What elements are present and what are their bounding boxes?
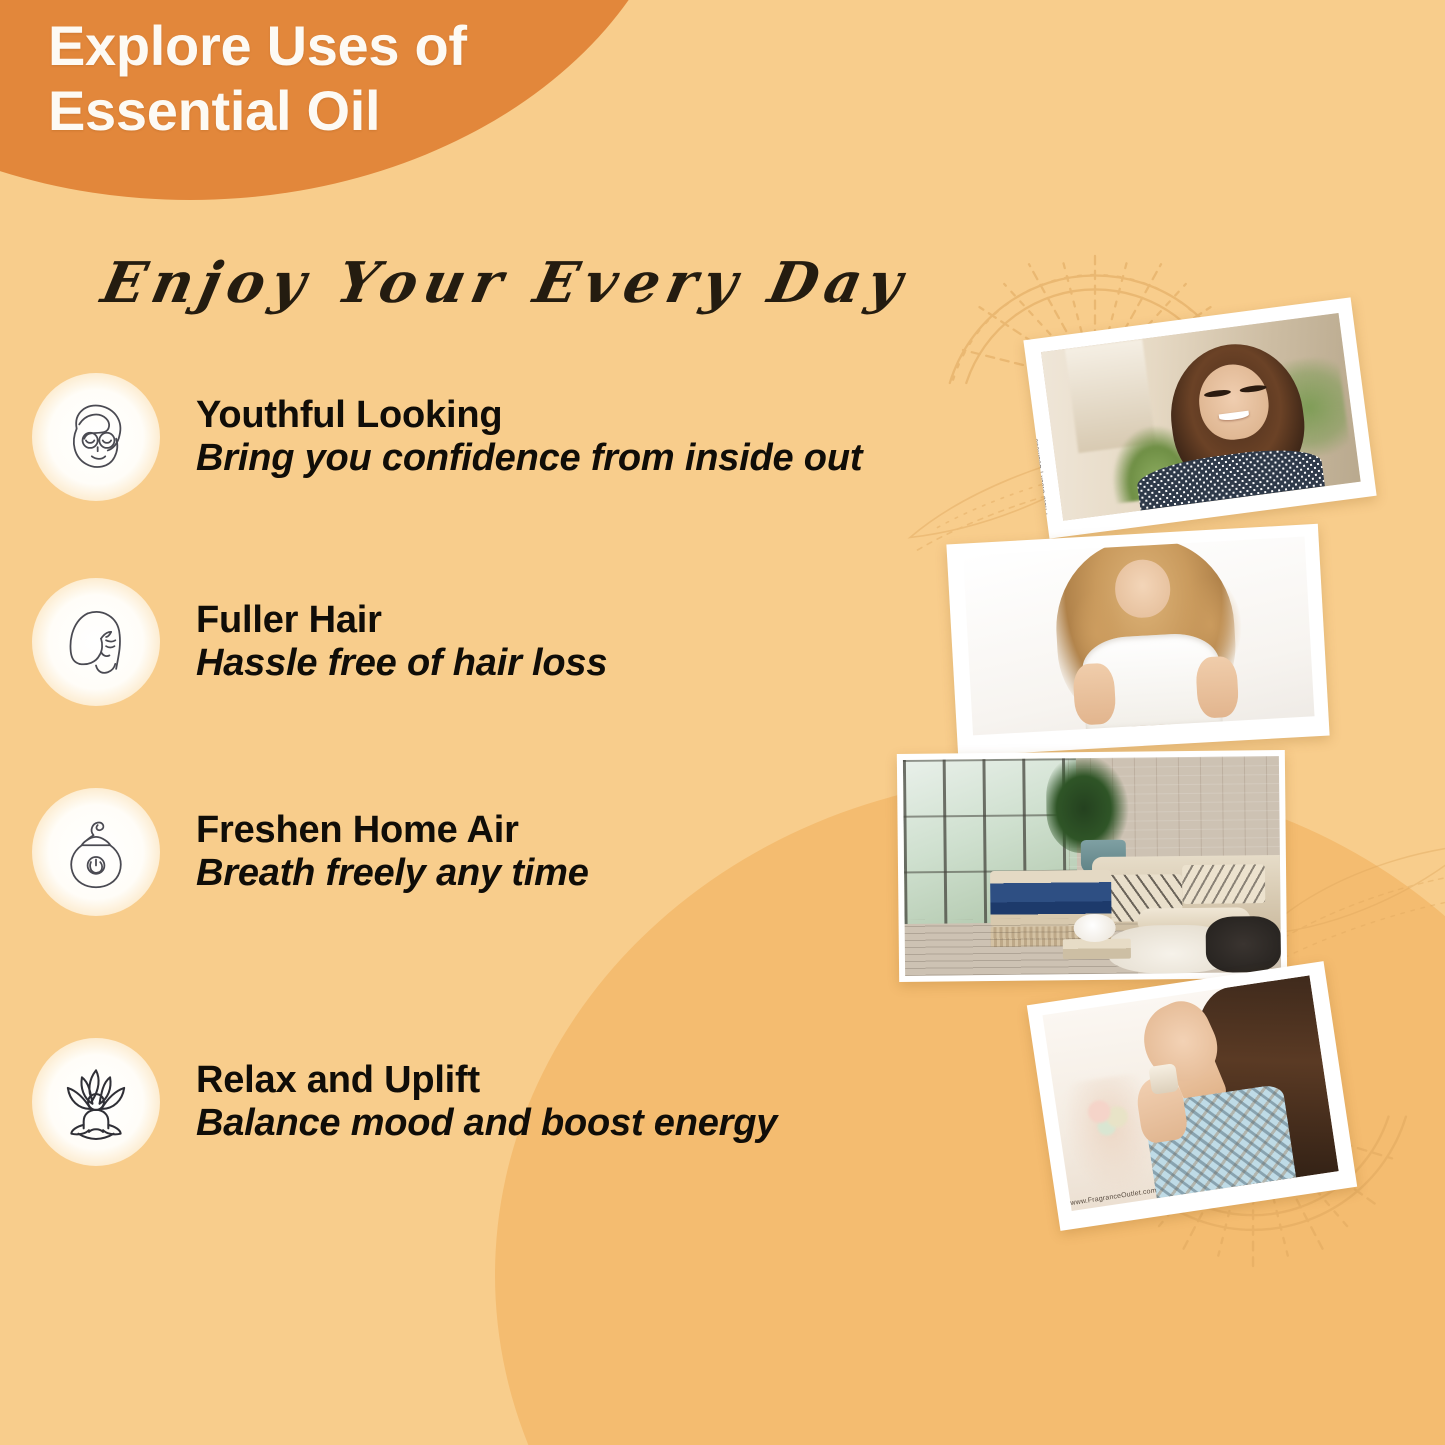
feature-text-freshen-home-air: Freshen Home Air Breath freely any time bbox=[196, 809, 589, 894]
feature-subtitle: Balance mood and boost energy bbox=[196, 1102, 777, 1145]
feature-title: Relax and Uplift bbox=[196, 1059, 777, 1102]
feature-text-fuller-hair: Fuller Hair Hassle free of hair loss bbox=[196, 599, 607, 684]
photo-smiling-woman-indoors: Photo Stock | Cosmetic bbox=[1023, 297, 1376, 538]
feature-item-relax-and-uplift: Relax and Uplift Balance mood and boost … bbox=[32, 1038, 777, 1166]
feature-subtitle: Bring you confidence from inside out bbox=[196, 437, 862, 480]
photo-boho-living-room bbox=[897, 750, 1287, 982]
feature-title: Youthful Looking bbox=[196, 394, 862, 437]
page-title-line1: Explore Uses of bbox=[48, 14, 467, 77]
feature-item-fuller-hair: Fuller Hair Hassle free of hair loss bbox=[32, 578, 607, 706]
feature-subtitle: Breath freely any time bbox=[196, 852, 589, 895]
feature-subtitle: Hassle free of hair loss bbox=[196, 642, 607, 685]
poster-canvas: Explore Uses of Essential Oil Enjoy Your… bbox=[0, 0, 1445, 1445]
feature-text-youthful-looking: Youthful Looking Bring you confidence fr… bbox=[196, 394, 862, 479]
lotus-meditation-icon bbox=[32, 1038, 160, 1166]
feature-title: Fuller Hair bbox=[196, 599, 607, 642]
face-mask-icon bbox=[32, 373, 160, 501]
feature-text-relax-and-uplift: Relax and Uplift Balance mood and boost … bbox=[196, 1059, 777, 1144]
photo-watermark: Photo Stock | Cosmetic bbox=[1032, 438, 1049, 515]
aroma-diffuser-icon bbox=[32, 788, 160, 916]
long-hair-profile-icon bbox=[32, 578, 160, 706]
feature-item-youthful-looking: Youthful Looking Bring you confidence fr… bbox=[32, 373, 862, 501]
photo-wavy-blonde-hair bbox=[946, 524, 1329, 756]
page-title: Explore Uses of Essential Oil bbox=[48, 14, 467, 144]
photo-collage: Photo Stock | Cosmetic bbox=[0, 0, 1445, 1445]
feature-item-freshen-home-air: Freshen Home Air Breath freely any time bbox=[32, 788, 589, 916]
tagline: Enjoy Your Every Day bbox=[97, 255, 914, 311]
photo-woman-applying-perfume: www.FragranceOutlet.com bbox=[1027, 961, 1357, 1231]
feature-title: Freshen Home Air bbox=[196, 809, 589, 852]
page-title-line2: Essential Oil bbox=[48, 79, 380, 142]
